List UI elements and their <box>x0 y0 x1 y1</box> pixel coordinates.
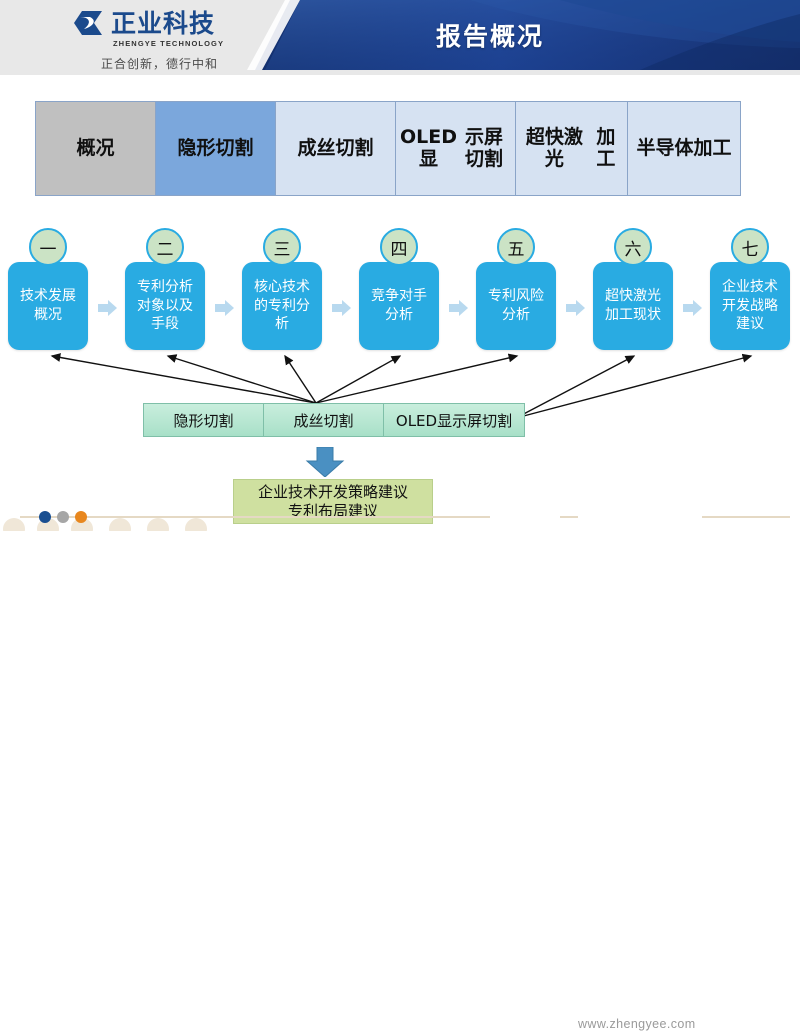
tab-2[interactable]: 隐形切割 <box>156 102 276 195</box>
slide-header: 正业科技 ZHENGYE TECHNOLOGY 正合创新，德行中和 报告概况 <box>0 0 800 75</box>
tab-label-line: 加工 <box>694 138 732 160</box>
flow-node-1[interactable]: 技术发展概况 <box>8 262 88 350</box>
tab-label-line: 加工 <box>589 127 623 171</box>
flow-arrow-icon-6 <box>683 300 702 316</box>
logo-company-name-cn: 正业科技 <box>111 11 215 36</box>
logo-tagline: 正合创新，德行中和 <box>72 55 247 72</box>
slide-footer: www.zhengyee.com <box>0 505 800 531</box>
tab-1[interactable]: 概况 <box>36 102 156 195</box>
category-box-2[interactable]: 成丝切割 <box>264 404 384 436</box>
flow-numeral-7: 七 <box>731 228 769 266</box>
flow-node-label: 技术发展概况 <box>20 287 76 325</box>
company-logo: 正业科技 ZHENGYE TECHNOLOGY 正合创新，德行中和 <box>72 8 247 68</box>
flow-node-label: 企业技术开发战略建议 <box>722 278 778 335</box>
conclusion-line-1: 企业技术开发策略建议 <box>258 483 408 502</box>
flow-numeral-5: 五 <box>497 228 535 266</box>
tab-label-line: 半导体 <box>636 138 693 160</box>
footer-decoration <box>0 505 800 531</box>
flow-node-3[interactable]: 核心技术的专利分析 <box>242 262 322 350</box>
category-box-3[interactable]: OLED显示屏切割 <box>384 404 524 436</box>
flow-node-6[interactable]: 超快激光加工现状 <box>593 262 673 350</box>
category-box-row[interactable]: 隐形切割成丝切割OLED显示屏切割 <box>143 403 525 437</box>
flow-node-2[interactable]: 专利分析对象以及手段 <box>125 262 205 350</box>
tab-label-line: 概况 <box>76 138 114 160</box>
tab-label-line: 示屏切割 <box>457 127 511 171</box>
flow-numeral-3: 三 <box>263 228 301 266</box>
tab-6[interactable]: 半导体加工 <box>628 102 740 195</box>
flow-numeral-1: 一 <box>29 228 67 266</box>
logo-company-name-en: ZHENGYE TECHNOLOGY <box>113 39 247 48</box>
flow-numeral-4: 四 <box>380 228 418 266</box>
section-tab-bar[interactable]: 概况隐形切割成丝切割OLED显示屏切割超快激光加工半导体加工 <box>35 101 741 196</box>
tab-3[interactable]: 成丝切割 <box>276 102 396 195</box>
tab-5[interactable]: 超快激光加工 <box>516 102 628 195</box>
tab-4[interactable]: OLED显示屏切割 <box>396 102 516 195</box>
footer-dot-blue <box>39 511 51 523</box>
flow-node-label: 核心技术的专利分析 <box>254 278 310 335</box>
category-box-1[interactable]: 隐形切割 <box>144 404 264 436</box>
flow-arrow-icon-2 <box>215 300 234 316</box>
process-flow: 一技术发展概况二专利分析对象以及手段三核心技术的专利分析四竞争对手分析五专利风险… <box>0 228 800 356</box>
flow-node-7[interactable]: 企业技术开发战略建议 <box>710 262 790 350</box>
down-arrow-icon <box>305 447 345 477</box>
flow-arrow-icon-1 <box>98 300 117 316</box>
tab-label-line: 成丝切割 <box>297 138 373 160</box>
flow-node-label: 专利分析对象以及手段 <box>137 278 193 335</box>
flow-node-label: 专利风险分析 <box>488 287 544 325</box>
zhengye-logo-icon <box>72 8 106 38</box>
footer-website-url: www.zhengyee.com <box>578 1017 696 1031</box>
footer-dot-gray <box>57 511 69 523</box>
tab-label-line: 超快激光 <box>520 127 589 171</box>
flow-node-label: 竞争对手分析 <box>371 287 427 325</box>
flow-arrow-icon-5 <box>566 300 585 316</box>
flow-numeral-2: 二 <box>146 228 184 266</box>
tab-label-line: 隐形切割 <box>177 138 253 160</box>
flow-arrow-icon-4 <box>449 300 468 316</box>
flow-arrow-icon-3 <box>332 300 351 316</box>
page-title: 报告概况 <box>390 17 590 53</box>
flow-node-4[interactable]: 竞争对手分析 <box>359 262 439 350</box>
tab-label-line: OLED显 <box>400 127 457 171</box>
flow-node-5[interactable]: 专利风险分析 <box>476 262 556 350</box>
flow-node-label: 超快激光加工现状 <box>605 287 661 325</box>
footer-dot-orange <box>75 511 87 523</box>
flow-numeral-6: 六 <box>614 228 652 266</box>
